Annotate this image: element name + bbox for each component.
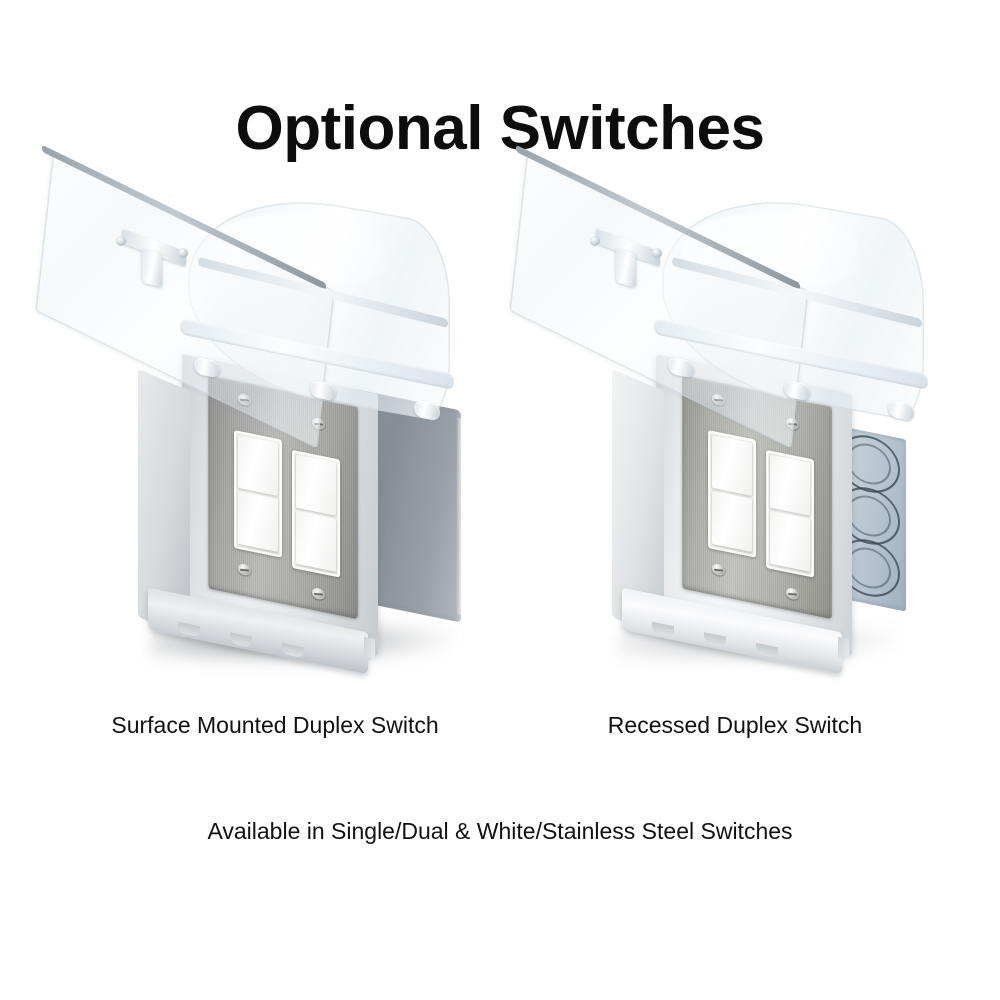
plate-screw-top-left bbox=[712, 393, 725, 407]
lip-notch bbox=[282, 643, 304, 658]
product-recessed bbox=[496, 196, 956, 676]
cover-hood-highlight bbox=[208, 203, 388, 292]
rocker-switch-lower[interactable] bbox=[712, 491, 752, 552]
rocker-switch-lower[interactable] bbox=[770, 511, 810, 572]
rocker-switch-lower[interactable] bbox=[296, 511, 336, 572]
rocker-switch-upper[interactable] bbox=[712, 435, 752, 496]
rocker-switch-gang-right[interactable] bbox=[292, 450, 340, 578]
plate-screw-top-left bbox=[238, 393, 251, 407]
page-title: Optional Switches bbox=[0, 98, 1000, 160]
caption-recessed: Recessed Duplex Switch bbox=[495, 712, 975, 739]
knockout-ring-inner bbox=[847, 492, 891, 541]
rocker-switch-upper[interactable] bbox=[770, 455, 810, 516]
stainless-steel-wall-plate bbox=[682, 375, 832, 620]
plate-screw-bottom-left bbox=[238, 563, 251, 577]
cover-latch-tongue[interactable] bbox=[142, 248, 162, 288]
plate-screw-bottom-right bbox=[786, 587, 799, 601]
cover-latch-pin bbox=[178, 248, 188, 258]
lip-foot bbox=[838, 637, 849, 659]
cover-latch-tongue[interactable] bbox=[616, 248, 636, 288]
plate-screw-bottom-left bbox=[712, 563, 725, 577]
switch-assembly-body bbox=[182, 374, 388, 642]
lip-notch bbox=[756, 643, 778, 658]
plate-screw-bottom-right bbox=[312, 587, 325, 601]
rocker-switch-lower[interactable] bbox=[238, 491, 278, 552]
cover-latch-body[interactable] bbox=[122, 228, 186, 266]
cover-latch-pin bbox=[116, 236, 126, 246]
cover-hood-highlight bbox=[682, 203, 862, 292]
plate-screw-top-right bbox=[786, 417, 799, 431]
lip-notch bbox=[652, 622, 674, 637]
cover-hood-rail bbox=[672, 257, 922, 328]
lip-notch bbox=[230, 632, 252, 647]
availability-note: Available in Single/Dual & White/Stainle… bbox=[0, 818, 1000, 845]
rocker-switch-gang-right[interactable] bbox=[766, 450, 814, 578]
product-surface-mounted bbox=[22, 196, 482, 676]
cover-hood-rail bbox=[198, 257, 448, 328]
plate-screw-top-right bbox=[312, 417, 325, 431]
lip-foot bbox=[364, 637, 375, 659]
lip-notch bbox=[178, 622, 200, 637]
stainless-steel-wall-plate bbox=[208, 375, 358, 620]
cover-lid-leading-edge bbox=[42, 145, 326, 291]
lip-notch bbox=[704, 632, 726, 647]
cover-latch-body[interactable] bbox=[596, 228, 660, 266]
rocker-switch-upper[interactable] bbox=[238, 435, 278, 496]
knockout-ring-inner bbox=[847, 440, 891, 489]
cover-lid-leading-edge bbox=[516, 145, 800, 291]
cover-latch-pin bbox=[652, 248, 662, 258]
rocker-switch-upper[interactable] bbox=[296, 455, 336, 516]
cover-latch-pin bbox=[590, 236, 600, 246]
knockout-ring-inner bbox=[847, 544, 891, 593]
caption-surface-mounted: Surface Mounted Duplex Switch bbox=[35, 712, 515, 739]
switch-assembly-body bbox=[656, 374, 862, 642]
rocker-switch-gang-left[interactable] bbox=[708, 430, 756, 558]
cover-hinge bbox=[888, 399, 914, 421]
rocker-switch-gang-left[interactable] bbox=[234, 430, 282, 558]
